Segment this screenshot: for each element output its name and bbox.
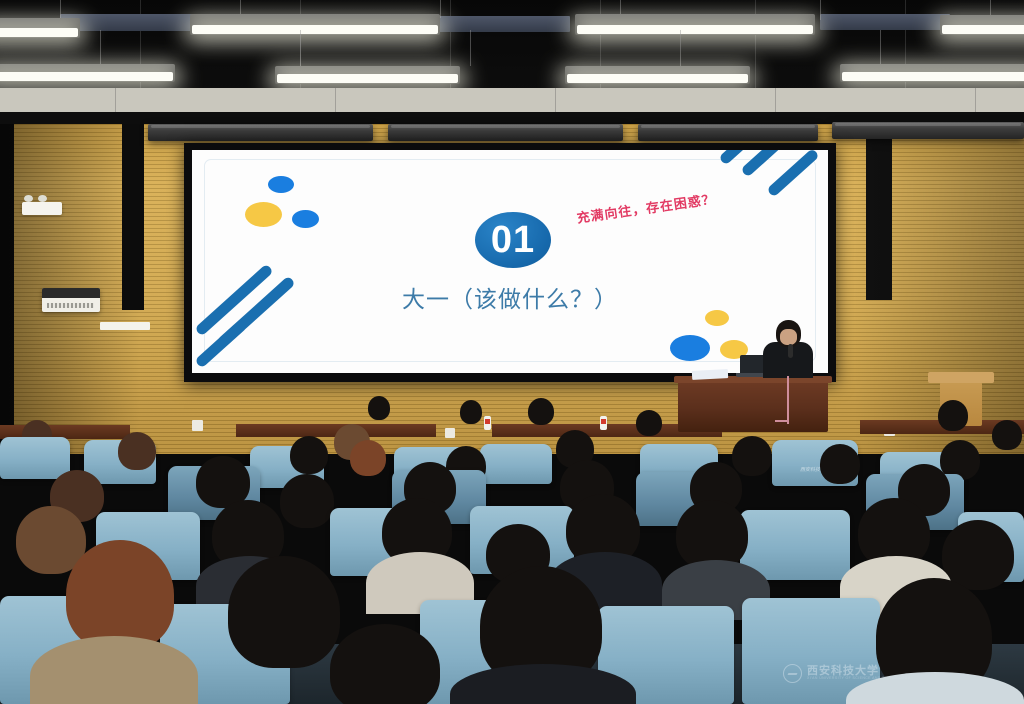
light-hanger [680, 30, 681, 66]
side-lectern-top [928, 372, 994, 383]
auditorium-seat[interactable] [0, 437, 70, 479]
auditorium-seat[interactable] [480, 444, 552, 484]
ceiling-light [940, 15, 1024, 35]
audience-head [368, 396, 390, 420]
wall-spotlight [388, 124, 623, 141]
ceiling-duct [820, 14, 950, 30]
audience-head [280, 474, 334, 528]
handheld-microphone [788, 344, 793, 358]
wall-switch-plate [192, 420, 203, 431]
audience-head [942, 520, 1014, 590]
slide-number-text: 01 [491, 221, 535, 259]
light-hanger [300, 30, 301, 66]
decor-dot-blue-medium [292, 210, 319, 228]
slide-number-badge: 01 [475, 212, 551, 268]
audience-head [460, 400, 482, 424]
ac-vent-grill [47, 303, 94, 308]
decor-dot-blue-small [268, 176, 294, 193]
ceiling-duct [430, 16, 570, 32]
panel-seam [335, 88, 336, 114]
light-hanger [880, 30, 881, 66]
emergency-lamp [24, 195, 33, 202]
audience-head [528, 398, 554, 425]
audience-head [118, 432, 156, 470]
watermark-name-en: XI'AN UNIVERSITY OF SCIENCE AND TECHNOLO… [807, 677, 911, 681]
watermark-text-group: 西安科技大学 XI'AN UNIVERSITY OF SCIENCE AND T… [807, 666, 911, 681]
main-podium [678, 380, 828, 432]
audience-head [66, 540, 174, 650]
light-hanger [440, 0, 441, 18]
audience-head [636, 410, 662, 436]
audience-head [938, 400, 968, 431]
light-hanger [100, 30, 101, 66]
audience-head [330, 624, 440, 704]
wall-spotlight [832, 122, 1024, 139]
microphone-cable [775, 420, 789, 422]
podium-papers [692, 369, 728, 380]
projection-screen: 充满向往，存在困惑？ 01 大一（该做什么？） [184, 143, 836, 382]
audience-head [820, 444, 860, 484]
water-bottle [600, 416, 607, 430]
emergency-light [22, 202, 62, 215]
audience-head [228, 556, 340, 668]
audience-head [290, 436, 328, 474]
ceiling-panel-band [0, 88, 1024, 114]
emergency-lamp [38, 195, 47, 202]
ceiling-light [275, 66, 460, 84]
ceiling-light [0, 64, 175, 82]
lecture-hall-photo: 充满向往，存在困惑？ 01 大一（该做什么？） [0, 0, 1024, 704]
presenter-face [780, 329, 797, 345]
watermark-logo: 西安科技大学 XI'AN UNIVERSITY OF SCIENCE AND T… [783, 664, 911, 683]
ceiling-light [565, 66, 750, 84]
panel-seam [775, 88, 776, 114]
air-conditioner-unit [42, 288, 100, 312]
light-hanger [820, 0, 821, 20]
water-bottle [484, 416, 491, 430]
audience-head [992, 420, 1022, 450]
university-emblem-icon [783, 664, 802, 683]
audience-head [732, 436, 772, 476]
ceiling-light [575, 14, 815, 35]
ceiling-light [0, 18, 80, 38]
audience-head [350, 440, 386, 476]
panel-seam [975, 88, 976, 114]
wall-spotlight [148, 124, 373, 141]
panel-seam [115, 88, 116, 114]
decor-dot-blue-large [670, 335, 710, 361]
ceiling-light [190, 14, 440, 35]
wall-shade-right [854, 124, 1024, 454]
wall-notice-sign [100, 322, 150, 330]
panel-seam [555, 88, 556, 114]
microphone-cable [787, 376, 789, 424]
decor-dot-yellow-large [245, 202, 282, 227]
slide-title: 大一（该做什么？） [192, 280, 828, 314]
wall-spotlight [638, 124, 818, 141]
wall-switch-plate [445, 428, 455, 438]
presentation-slide: 充满向往，存在困惑？ 01 大一（该做什么？） [192, 150, 828, 373]
ceiling-light [840, 64, 1024, 82]
light-hanger [470, 30, 471, 66]
